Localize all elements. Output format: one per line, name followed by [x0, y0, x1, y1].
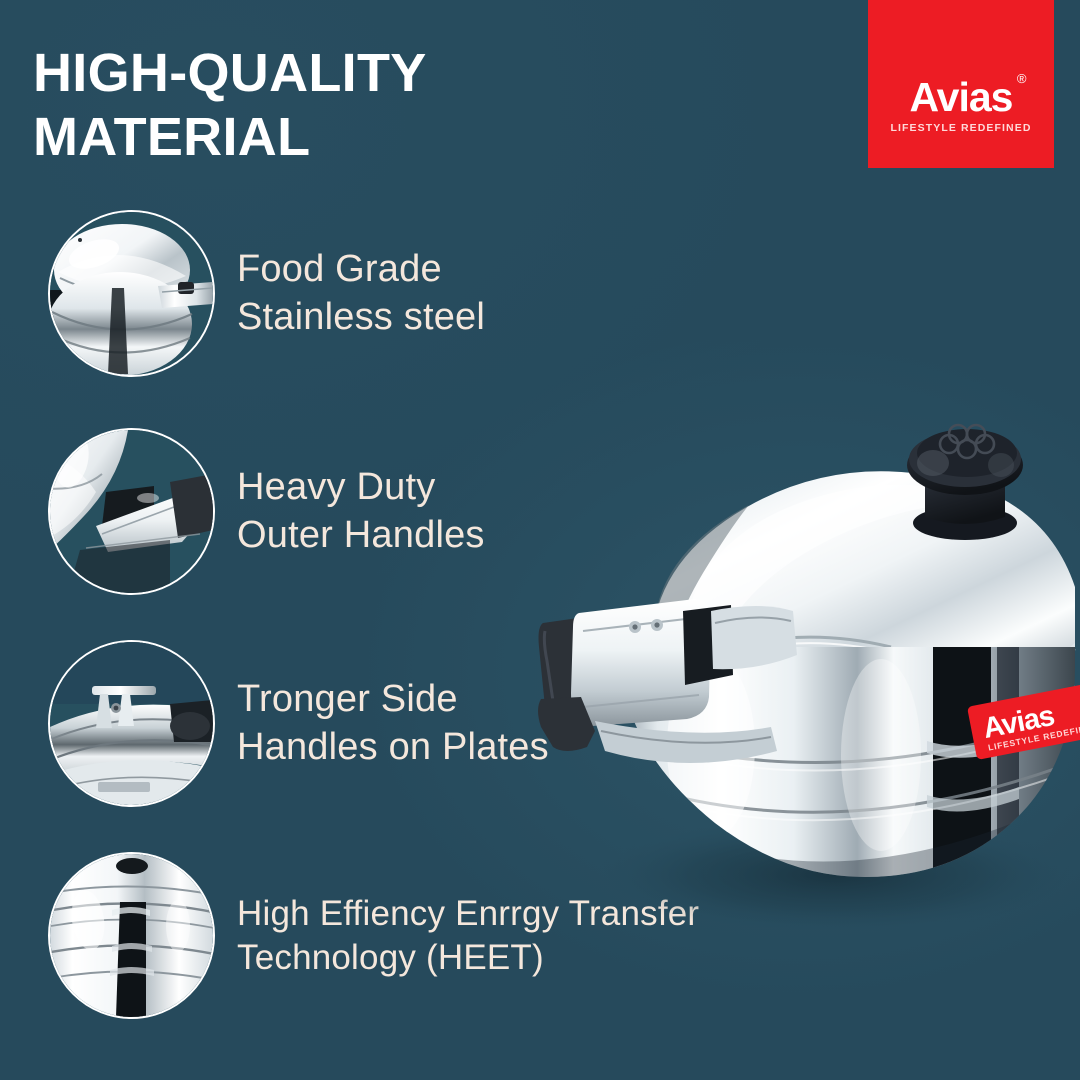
brand-name-rest: vias [937, 74, 1013, 120]
cooker-body-bands-closeup-icon [50, 854, 213, 1017]
feature-row-food-grade: Food Grade Stainless steel [48, 210, 868, 377]
cooker-lid-knob [907, 425, 1023, 540]
page-title: HIGH-QUALITY MATERIAL [33, 42, 673, 169]
pressure-cooker-kadai-illustration: Avias LIFESTYLE REDEFINED [535, 355, 1080, 915]
feature-label-outer-handles: Heavy Duty Outer Handles [237, 464, 485, 559]
brand-logo: Avias® LIFESTYLE REDEFINED [868, 0, 1054, 168]
brand-wordmark: Avias® [910, 77, 1013, 118]
promo-infographic: HIGH-QUALITY MATERIAL Avias® LIFESTYLE R… [0, 0, 1080, 1080]
feature-thumbnail-heet [48, 852, 215, 1019]
separator-plate-handle-closeup-icon [50, 642, 213, 805]
feature-label-food-grade: Food Grade Stainless steel [237, 246, 485, 341]
brand-tagline: LIFESTYLE REDEFINED [890, 122, 1031, 134]
cooker-lid-closeup-icon [50, 212, 213, 375]
page-title-line-2: MATERIAL [33, 106, 673, 170]
feature-label-side-handles: Tronger Side Handles on Plates [237, 676, 549, 771]
feature-thumbnail-side-handles [48, 640, 215, 807]
page-title-line-1: HIGH-QUALITY [33, 43, 427, 103]
feature-thumbnail-food-grade [48, 210, 215, 377]
product-image: Avias LIFESTYLE REDEFINED [535, 355, 1080, 915]
registered-trademark-icon: ® [1017, 72, 1026, 85]
brand-name-prefix: A [910, 74, 937, 120]
outer-handle-closeup-icon [50, 430, 213, 593]
feature-thumbnail-outer-handles [48, 428, 215, 595]
